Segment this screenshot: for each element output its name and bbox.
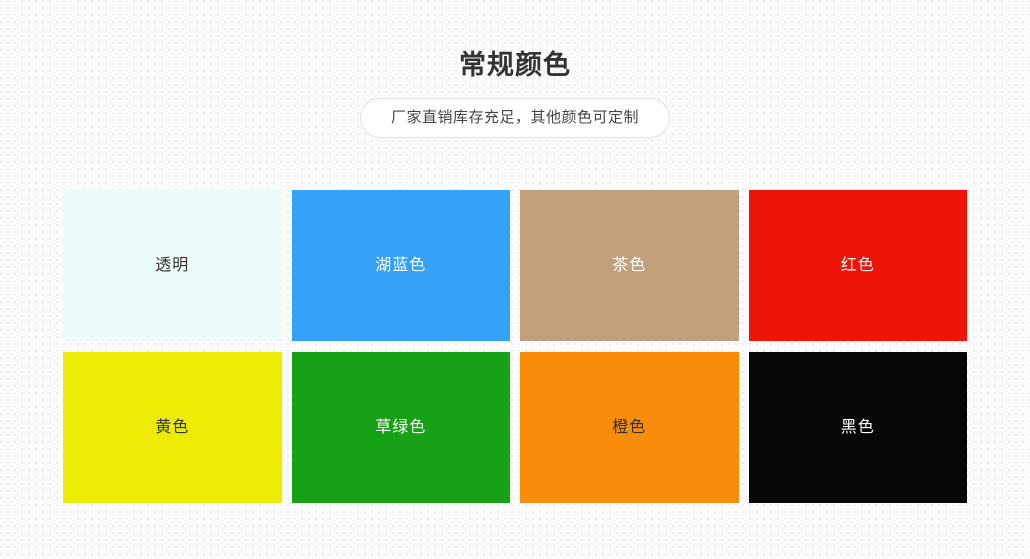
- page-title: 常规颜色: [0, 0, 1030, 83]
- color-swatch-label: 湖蓝色: [375, 258, 426, 274]
- subtitle-pill: 厂家直销库存充足，其他颜色可定制: [360, 98, 670, 138]
- color-swatch-label: 橙色: [612, 420, 646, 436]
- color-swatch[interactable]: 透明: [63, 190, 282, 341]
- color-swatch-label: 红色: [841, 258, 875, 274]
- color-swatch-label: 透明: [155, 258, 189, 274]
- color-swatch[interactable]: 黄色: [63, 352, 282, 503]
- color-swatch[interactable]: 黑色: [749, 352, 968, 503]
- color-swatch[interactable]: 草绿色: [292, 352, 511, 503]
- subtitle-container: 厂家直销库存充足，其他颜色可定制: [0, 98, 1030, 138]
- color-swatch-grid: 透明 湖蓝色 茶色 红色 黄色 草绿色 橙色 黑色: [63, 190, 967, 503]
- color-swatch-label: 黄色: [155, 420, 189, 436]
- color-catalog-page: 常规颜色 厂家直销库存充足，其他颜色可定制 透明 湖蓝色 茶色 红色 黄色 草绿…: [0, 0, 1030, 559]
- color-swatch[interactable]: 茶色: [520, 190, 739, 341]
- color-swatch[interactable]: 橙色: [520, 352, 739, 503]
- color-swatch-label: 茶色: [612, 258, 646, 274]
- color-swatch-label: 草绿色: [375, 420, 426, 436]
- color-swatch-label: 黑色: [841, 420, 875, 436]
- color-swatch[interactable]: 湖蓝色: [292, 190, 511, 341]
- color-swatch[interactable]: 红色: [749, 190, 968, 341]
